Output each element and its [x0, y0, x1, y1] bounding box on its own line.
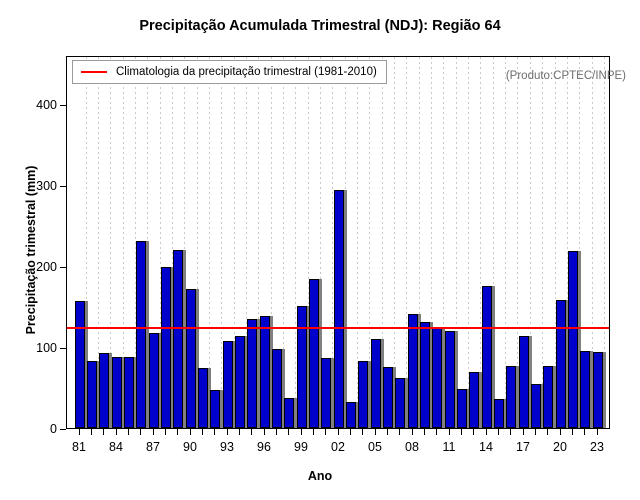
bar[interactable] [272, 349, 282, 428]
bar[interactable] [284, 398, 294, 428]
bar[interactable] [371, 339, 381, 428]
x-tick-label: 11 [443, 440, 456, 454]
bar[interactable] [568, 251, 578, 428]
bar[interactable] [173, 250, 183, 428]
bar[interactable] [383, 367, 393, 428]
x-tick [535, 429, 536, 435]
x-tick [498, 429, 499, 435]
bar[interactable] [494, 399, 504, 428]
bar[interactable] [149, 333, 159, 428]
bar[interactable] [432, 327, 442, 428]
x-tick [560, 429, 561, 435]
x-tick [301, 429, 302, 435]
legend: Climatologia da precipitação trimestral … [72, 60, 387, 84]
x-tick [486, 429, 487, 435]
x-tick-label: 23 [590, 440, 604, 454]
x-tick-label: 05 [368, 440, 382, 454]
x-tick [165, 429, 166, 435]
x-tick [584, 429, 585, 435]
x-tick [177, 429, 178, 435]
bar[interactable] [235, 336, 245, 428]
bar[interactable] [469, 372, 479, 428]
bar[interactable] [247, 319, 257, 428]
bar[interactable] [593, 352, 603, 428]
x-tick [412, 429, 413, 435]
x-tick [461, 429, 462, 435]
x-tick [264, 429, 265, 435]
bar[interactable] [260, 316, 270, 428]
legend-label: Climatologia da precipitação trimestral … [116, 66, 377, 78]
x-tick-label: 99 [294, 440, 308, 454]
bar[interactable] [99, 353, 109, 428]
x-tick [227, 429, 228, 435]
legend-line-swatch [81, 71, 107, 73]
x-tick [214, 429, 215, 435]
x-tick [436, 429, 437, 435]
x-tick [202, 429, 203, 435]
x-axis: Ano 818487909396990205081114172023 [0, 429, 640, 500]
x-tick [288, 429, 289, 435]
x-tick-label: 93 [220, 440, 234, 454]
bar[interactable] [334, 190, 344, 428]
bar[interactable] [75, 301, 85, 428]
x-tick [523, 429, 524, 435]
x-tick [128, 429, 129, 435]
bar[interactable] [519, 336, 529, 428]
x-tick [572, 429, 573, 435]
bar[interactable] [506, 366, 516, 428]
bar[interactable] [210, 390, 220, 428]
bar[interactable] [321, 358, 331, 428]
x-tick [153, 429, 154, 435]
x-tick [473, 429, 474, 435]
x-tick [338, 429, 339, 435]
plot-area [66, 56, 610, 429]
bar[interactable] [198, 368, 208, 428]
bar[interactable] [223, 341, 233, 428]
x-tick [325, 429, 326, 435]
bar[interactable] [395, 378, 405, 428]
x-tick-label: 20 [553, 440, 567, 454]
chart-title: Precipitação Acumulada Trimestral (NDJ):… [0, 18, 640, 34]
bar[interactable] [124, 357, 134, 428]
bar[interactable] [457, 389, 467, 428]
bar[interactable] [186, 289, 196, 428]
bar[interactable] [556, 300, 566, 428]
y-axis-title: Precipitação trimestral (mm) [24, 135, 38, 365]
x-tick [79, 429, 80, 435]
x-tick [239, 429, 240, 435]
bar[interactable] [309, 279, 319, 428]
producer-annotation: (Produto:CPTEC/INPE) [506, 70, 626, 82]
x-axis-title: Ano [0, 469, 640, 483]
y-tick-label: 200 [36, 260, 57, 274]
x-tick [424, 429, 425, 435]
bar[interactable] [580, 351, 590, 428]
x-tick-label: 08 [405, 440, 419, 454]
x-tick-label: 02 [331, 440, 345, 454]
bar[interactable] [161, 267, 171, 428]
x-tick [91, 429, 92, 435]
x-tick-label: 96 [257, 440, 271, 454]
x-tick [375, 429, 376, 435]
x-tick [251, 429, 252, 435]
x-tick [276, 429, 277, 435]
bar[interactable] [420, 322, 430, 428]
climatology-line [67, 327, 609, 329]
x-tick [362, 429, 363, 435]
x-tick [449, 429, 450, 435]
x-tick-label: 84 [109, 440, 123, 454]
bar[interactable] [87, 361, 97, 428]
x-tick-label: 17 [516, 440, 530, 454]
x-tick [350, 429, 351, 435]
x-tick [140, 429, 141, 435]
bar[interactable] [358, 361, 368, 428]
y-tick-label: 100 [36, 341, 57, 355]
x-tick [547, 429, 548, 435]
bar[interactable] [136, 241, 146, 428]
x-tick [116, 429, 117, 435]
x-tick [597, 429, 598, 435]
x-tick-label: 87 [146, 440, 160, 454]
y-axis: Precipitação trimestral (mm) 01002003004… [0, 0, 66, 500]
bar[interactable] [346, 402, 356, 428]
x-tick [313, 429, 314, 435]
x-tick [399, 429, 400, 435]
bar[interactable] [112, 357, 122, 428]
bar[interactable] [543, 366, 553, 428]
x-tick [387, 429, 388, 435]
x-tick [103, 429, 104, 435]
precipitation-bar-chart: Precipitação Acumulada Trimestral (NDJ):… [0, 0, 640, 500]
bar[interactable] [445, 331, 455, 428]
y-tick-label: 400 [36, 98, 57, 112]
y-tick-label: 300 [36, 179, 57, 193]
x-tick-label: 90 [183, 440, 197, 454]
x-tick-label: 14 [479, 440, 493, 454]
x-tick [510, 429, 511, 435]
bar[interactable] [408, 314, 418, 428]
bar[interactable] [297, 306, 307, 428]
x-tick-label: 81 [72, 440, 86, 454]
bars-layer [67, 57, 609, 428]
x-tick [190, 429, 191, 435]
bar[interactable] [482, 286, 492, 428]
bar[interactable] [531, 384, 541, 428]
